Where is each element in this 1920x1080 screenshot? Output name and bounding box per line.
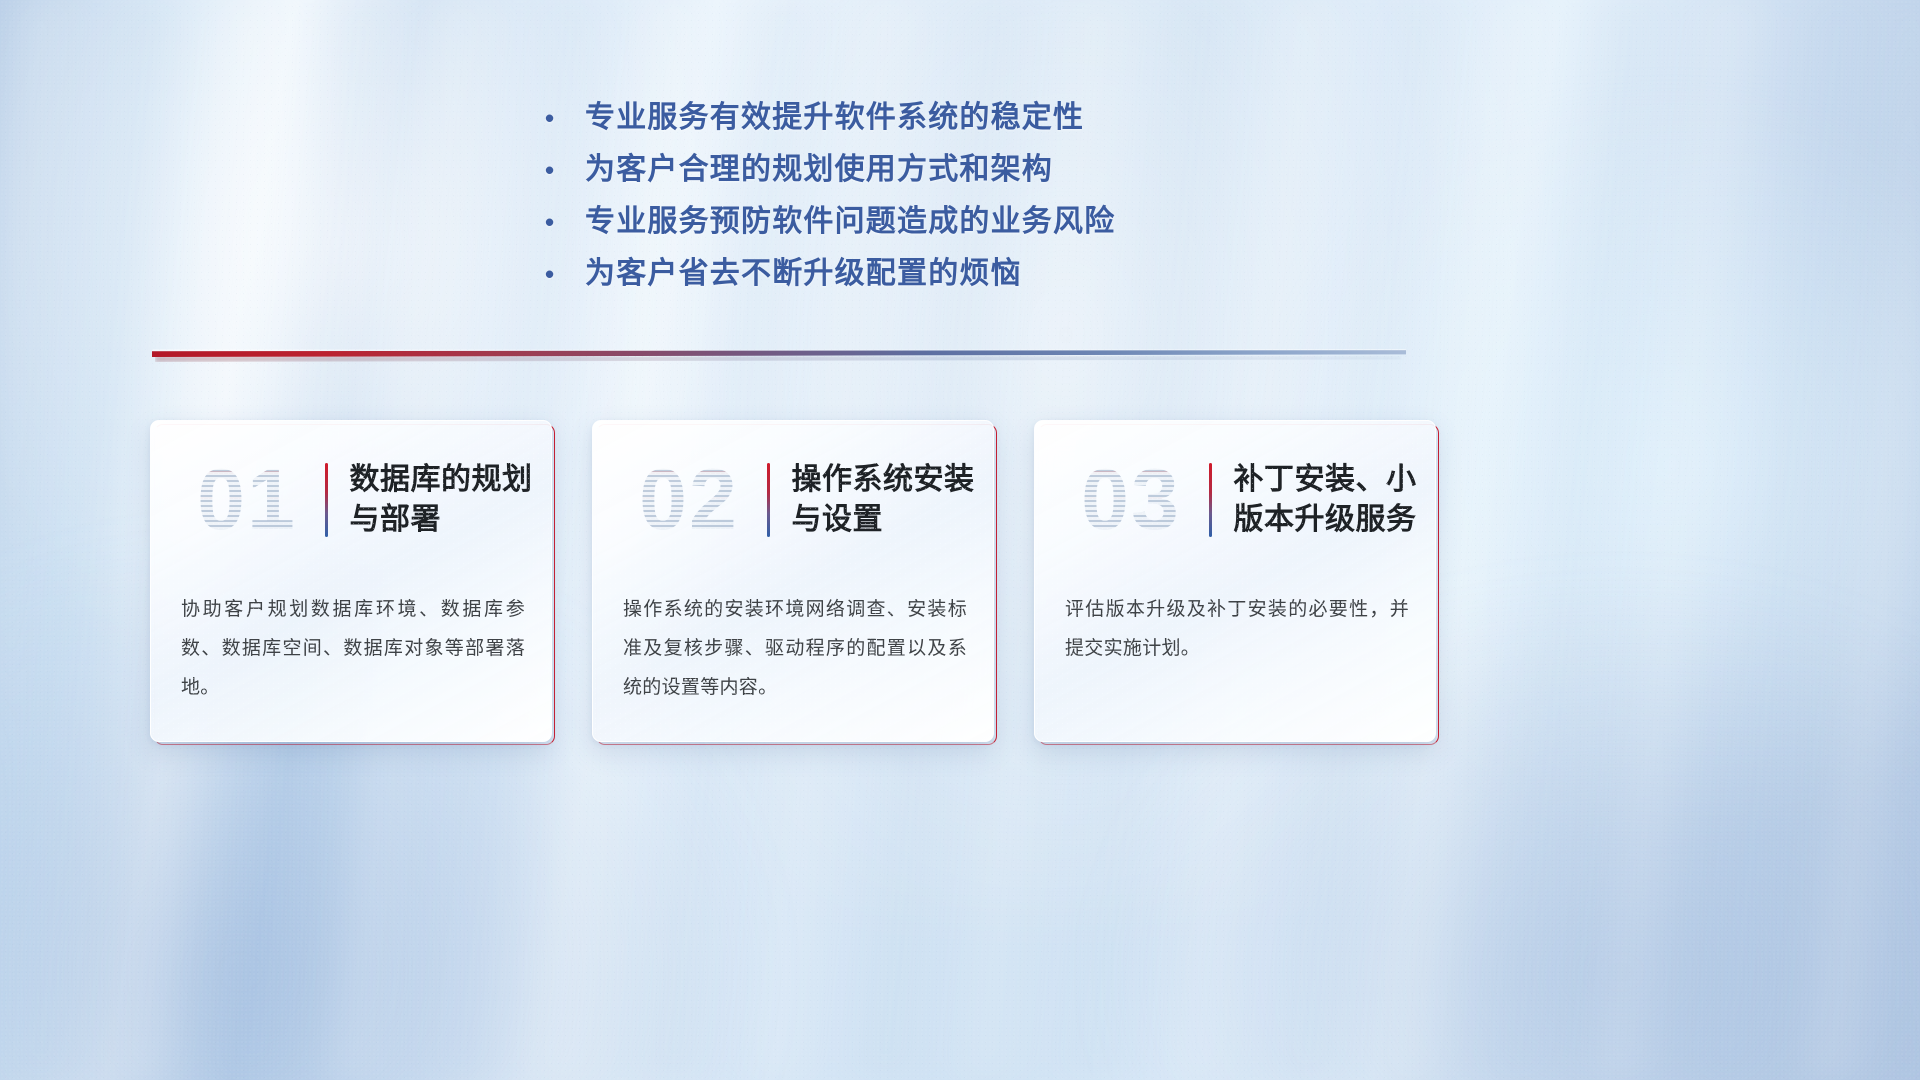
card-header: 0202 操作系统安装与设置	[593, 441, 993, 559]
service-card[interactable]: 0101 数据库的规划与部署 协助客户规划数据库环境、数据库参数、数据库空间、数…	[150, 420, 552, 742]
card-title-rule	[1209, 463, 1212, 537]
card-header: 0101 数据库的规划与部署	[151, 441, 551, 559]
card-number-tint: 03	[1057, 445, 1205, 555]
service-card[interactable]: 0202 操作系统安装与设置 操作系统的安装环境网络调查、安装标准及复核步骤、驱…	[592, 420, 994, 742]
bullet-text: 为客户合理的规划使用方式和架构	[585, 144, 1053, 188]
bullet-item: • 专业服务有效提升软件系统的稳定性	[545, 92, 1445, 144]
card-title-rule	[325, 463, 328, 537]
bullet-item: • 为客户合理的规划使用方式和架构	[545, 144, 1445, 196]
bullet-item: • 专业服务预防软件问题造成的业务风险	[545, 196, 1445, 248]
bullet-text: 专业服务预防软件问题造成的业务风险	[585, 196, 1115, 240]
card-surface: 0202 操作系统安装与设置 操作系统的安装环境网络调查、安装标准及复核步骤、驱…	[592, 420, 994, 742]
card-title: 操作系统安装与设置	[792, 460, 994, 539]
bullet-dot-icon: •	[545, 157, 585, 183]
card-header: 0303 补丁安装、小版本升级服务	[1035, 441, 1435, 559]
bullet-item: • 为客户省去不断升级配置的烦恼	[545, 248, 1445, 300]
card-title: 数据库的规划与部署	[350, 460, 552, 539]
benefits-bullet-list: • 专业服务有效提升软件系统的稳定性 • 为客户合理的规划使用方式和架构 • 专…	[545, 92, 1445, 300]
service-card-row: 0101 数据库的规划与部署 协助客户规划数据库环境、数据库参数、数据库空间、数…	[150, 420, 1436, 742]
service-card[interactable]: 0303 补丁安装、小版本升级服务 评估版本升级及补丁安装的必要性，并提交实施计…	[1034, 420, 1436, 742]
card-number-watermark: 0303	[1057, 445, 1205, 555]
bullet-text: 专业服务有效提升软件系统的稳定性	[585, 92, 1084, 136]
card-description: 评估版本升级及补丁安装的必要性，并提交实施计划。	[1065, 591, 1409, 669]
card-number-watermark: 0202	[615, 445, 763, 555]
card-number-watermark: 0101	[173, 445, 321, 555]
card-title-rule	[767, 463, 770, 537]
card-description: 操作系统的安装环境网络调查、安装标准及复核步骤、驱动程序的配置以及系统的设置等内…	[623, 591, 967, 708]
bullet-dot-icon: •	[545, 261, 585, 287]
card-surface: 0303 补丁安装、小版本升级服务 评估版本升级及补丁安装的必要性，并提交实施计…	[1034, 420, 1436, 742]
card-description: 协助客户规划数据库环境、数据库参数、数据库空间、数据库对象等部署落地。	[181, 591, 525, 708]
card-number-tint: 01	[173, 445, 321, 555]
section-divider	[152, 347, 1406, 369]
bullet-dot-icon: •	[545, 209, 585, 235]
card-title: 补丁安装、小版本升级服务	[1234, 460, 1436, 539]
divider-shadow	[155, 356, 1401, 362]
card-number-tint: 02	[615, 445, 763, 555]
card-surface: 0101 数据库的规划与部署 协助客户规划数据库环境、数据库参数、数据库空间、数…	[150, 420, 552, 742]
divider-bar	[152, 350, 1406, 357]
bullet-text: 为客户省去不断升级配置的烦恼	[585, 248, 1022, 292]
bullet-dot-icon: •	[545, 105, 585, 131]
